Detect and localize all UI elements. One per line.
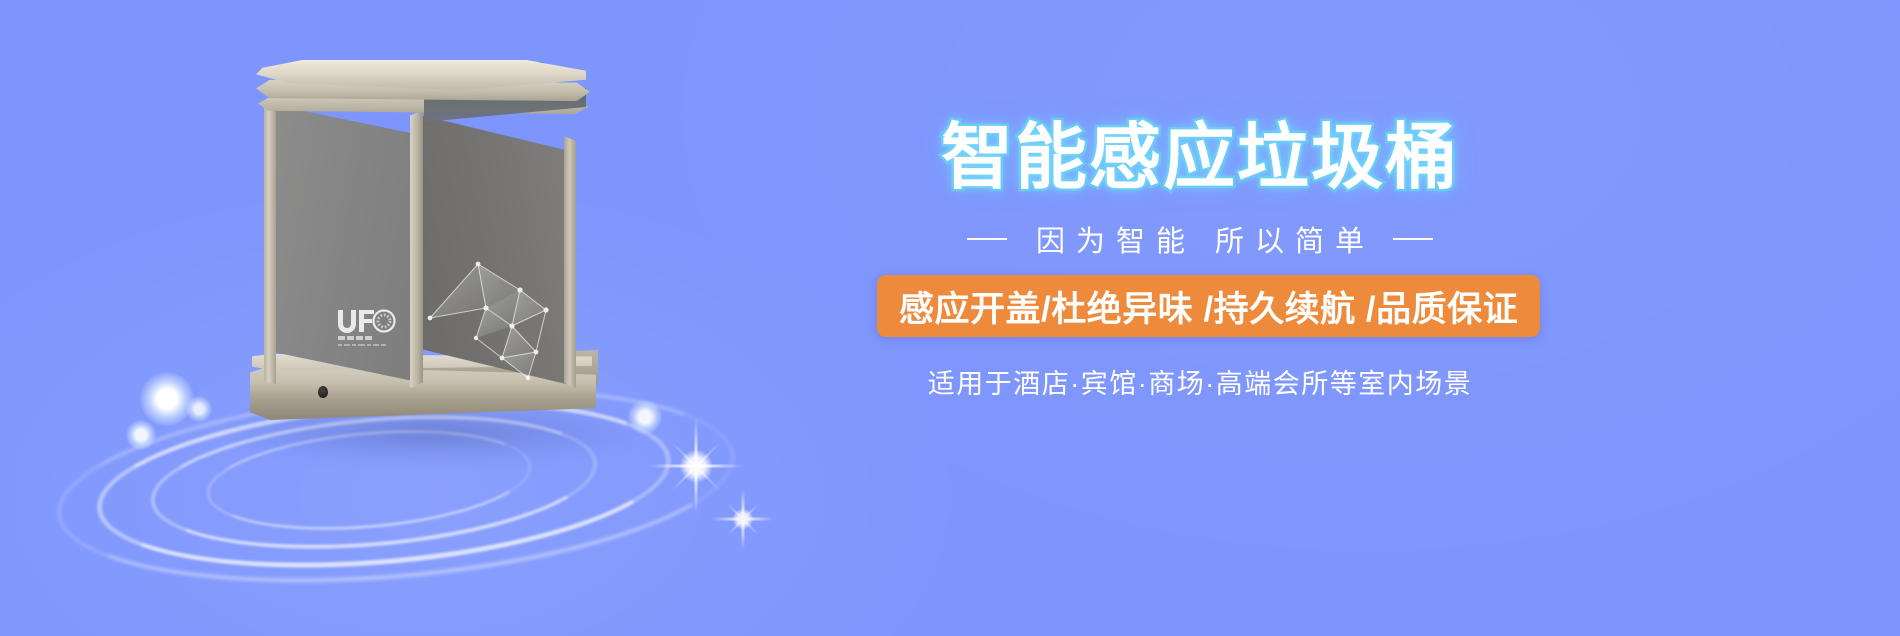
feature-highlight-badge: 感应开盖/杜绝异味 /持久续航 /品质保证: [877, 275, 1540, 337]
ripple-glow-dot: [140, 372, 194, 426]
page-title: 智能感应垃圾桶: [880, 122, 1520, 194]
feature-highlight-text: 感应开盖/杜绝异味 /持久续航 /品质保证: [899, 281, 1518, 332]
promotional-banner: 智能感应垃圾桶 因为智能 所以简单 感应开盖/杜绝异味 /持久续航 /品质保证 …: [0, 0, 1900, 636]
subtitle-rule-left: [967, 238, 1007, 240]
product-scene: [0, 0, 820, 636]
subtitle-rule-right: [1393, 238, 1433, 240]
ufo-brand-logo: [336, 308, 396, 352]
usage-scenario-text: 适用于酒店·宾馆·商场·高端会所等室内场景: [880, 362, 1520, 401]
trash-bin-product-image: [248, 54, 668, 474]
ripple-glow-dot: [126, 420, 156, 450]
marketing-copy-block: 智能感应垃圾桶 因为智能 所以简单 感应开盖/杜绝异味 /持久续航 /品质保证 …: [880, 0, 1900, 636]
subtitle-text: 因为智能 所以简单: [1025, 218, 1375, 260]
bin-network-graphic: [416, 234, 576, 389]
sparkle-star-icon: [712, 488, 774, 550]
ripple-glow-dot: [186, 396, 212, 422]
bin-sensor-nub: [318, 386, 328, 398]
bin-corner-post-left: [264, 100, 276, 384]
subtitle-row: 因为智能 所以简单: [880, 218, 1520, 260]
bin-corner-post-right: [564, 136, 576, 388]
bin-corner-post-front: [410, 110, 423, 388]
